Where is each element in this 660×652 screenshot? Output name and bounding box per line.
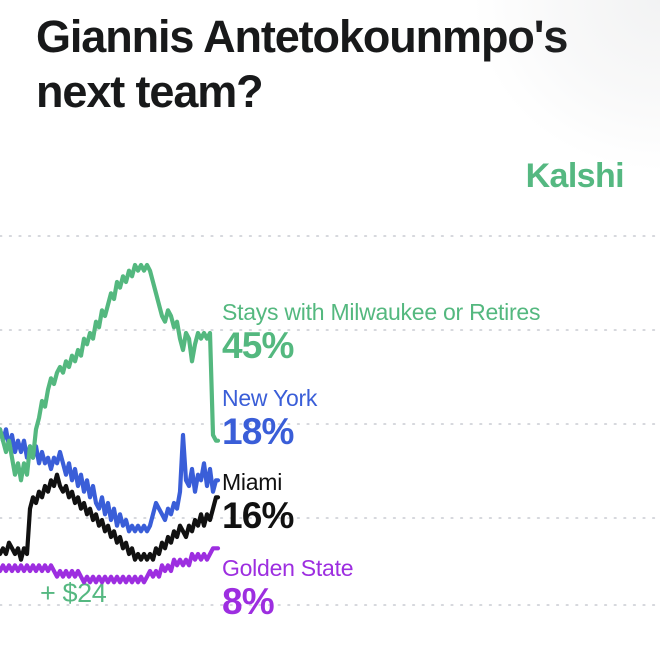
legend-label-new-york: New York bbox=[222, 386, 317, 411]
page-title: Giannis Antetokounmpo's next team? bbox=[36, 9, 636, 119]
legend-item-new-york[interactable]: New York 18% bbox=[222, 386, 317, 452]
legend-label-milwaukee: Stays with Milwaukee or Retires bbox=[222, 300, 540, 325]
series-line-golden-state bbox=[0, 548, 218, 582]
legend-item-golden-state[interactable]: Golden State 8% bbox=[222, 556, 353, 622]
legend-item-miami[interactable]: Miami 16% bbox=[222, 470, 294, 536]
legend-label-golden-state: Golden State bbox=[222, 556, 353, 581]
legend-value-golden-state: 8% bbox=[222, 582, 353, 622]
legend-label-miami: Miami bbox=[222, 470, 294, 495]
legend-value-milwaukee: 45% bbox=[222, 326, 540, 366]
kalshi-brand-logo: Kalshi bbox=[526, 157, 624, 196]
legend-item-stays-with-milwaukee-or-retires[interactable]: Stays with Milwaukee or Retires 45% bbox=[222, 300, 540, 366]
kalshi-market-chart-card: Giannis Antetokounmpo's next team? Kalsh… bbox=[0, 0, 660, 652]
legend-value-new-york: 18% bbox=[222, 412, 317, 452]
legend-value-miami: 16% bbox=[222, 496, 294, 536]
